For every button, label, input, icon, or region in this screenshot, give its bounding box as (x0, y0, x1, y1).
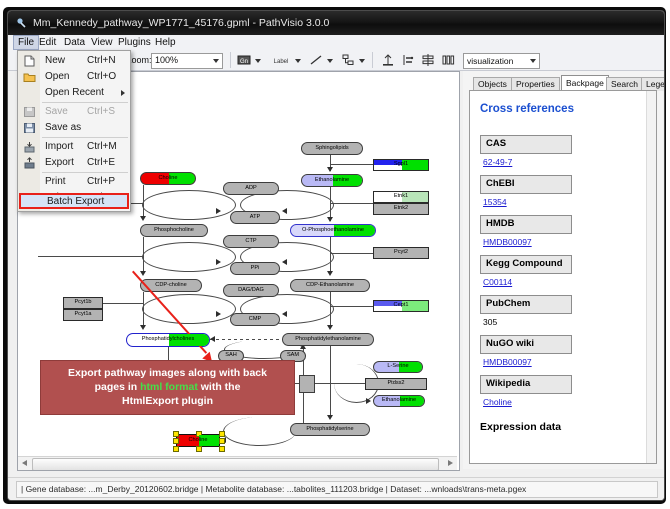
node-sgpl1[interactable]: Sgpl1 (373, 159, 429, 171)
backpage-content: Cross references CAS 62-49-7 ChEBI 15354… (470, 91, 646, 463)
arrowhead-icon (216, 259, 221, 265)
menu-item-print[interactable]: Print Ctrl+P (19, 174, 129, 190)
menu-item-accel: Ctrl+O (87, 71, 116, 82)
xref-header-hmdb: HMDB (480, 215, 572, 234)
cross-references-title: Cross references (480, 103, 574, 115)
node-label: Phosphatidylethanolamine (295, 337, 361, 343)
menu-item-label: Open (45, 71, 69, 82)
desktop-background: Mm_Kennedy_pathway_WP1771_45176.gpml - P… (0, 0, 670, 509)
menu-item-export[interactable]: Export Ctrl+E (19, 155, 129, 171)
node-l-serine[interactable]: L-Serine (373, 361, 423, 373)
node-label: Phosphocholine (154, 228, 194, 234)
xref-header-nugo: NuGO wiki (480, 335, 572, 354)
callout-line-3: HtmlExport plugin (122, 395, 213, 407)
xref-header-label: CAS (486, 138, 506, 149)
node-label: ADP (245, 186, 257, 192)
arrowhead-icon (327, 415, 333, 420)
xref-header-label: HMDB (486, 218, 515, 229)
chevron-down-icon[interactable] (326, 52, 334, 68)
canvas-horizontal-scrollbar[interactable] (18, 456, 457, 470)
node-pcyt1a[interactable]: Pcyt1a (63, 309, 103, 321)
node-dag[interactable]: DAG/DAG (223, 284, 279, 297)
tab-legend[interactable]: Legend (641, 77, 665, 91)
distribute-icon[interactable] (440, 52, 456, 68)
node-choline[interactable]: Choline (140, 172, 196, 185)
datanode-icon[interactable]: Gn (236, 52, 252, 68)
gene-link (330, 306, 373, 307)
menu-data[interactable]: Data (60, 36, 89, 49)
node-label: Etnk1 (394, 194, 408, 200)
node-label: SAH (225, 353, 237, 359)
menu-help[interactable]: Help (151, 36, 180, 49)
node-phosphatidylcholines[interactable]: Phosphatidylcholines (126, 333, 210, 347)
node-label: O-Phosphoethanolamine (302, 228, 364, 234)
node-ethanolamine-2[interactable]: Ethanolamine (373, 395, 425, 407)
arrowhead-icon (216, 208, 221, 214)
menu-item-new[interactable]: New Ctrl+N (19, 53, 129, 69)
cofactor-loop (223, 417, 296, 446)
annotation-callout-text: Export pathway images along with back pa… (47, 366, 288, 408)
edge (330, 346, 331, 418)
node-label: PPi (251, 266, 260, 272)
selection-handle[interactable] (196, 446, 202, 452)
node-ptdss2[interactable]: Ptdss2 (365, 378, 427, 390)
gene-link (330, 253, 373, 254)
arrowhead-icon (140, 216, 146, 221)
chevron-down-icon[interactable] (358, 52, 366, 68)
node-label: DAG/DAG (238, 288, 264, 294)
xref-header-label: ChEBI (486, 178, 515, 189)
gene-link (103, 303, 143, 304)
chevron-down-icon[interactable] (254, 52, 262, 68)
node-label: Pcyt1a (74, 312, 91, 318)
arrowhead-icon (327, 325, 333, 330)
node-label: SAM (287, 353, 299, 359)
callout-line-2b: with the (198, 381, 241, 393)
node-label: CDP-Ethanolamine (306, 283, 354, 289)
menu-bar: File Edit Data View Plugins Help (8, 35, 664, 51)
arrowhead-icon (216, 311, 221, 317)
xref-header-pubchem: PubChem (480, 295, 572, 314)
gene-link (330, 164, 373, 165)
save-as-icon (23, 122, 36, 134)
xref-header-label: Wikipedia (486, 378, 530, 389)
xref-value-kegg[interactable]: C00114 (483, 277, 512, 287)
menu-item-accel: Ctrl+E (87, 157, 115, 168)
node-label: Choline (189, 438, 208, 444)
node-etnk1[interactable]: Etnk1 (373, 191, 429, 203)
xref-header-label: PubChem (486, 298, 530, 309)
arrowhead-icon (366, 398, 371, 404)
annotation-callout: Export pathway images along with back pa… (40, 360, 295, 415)
status-bar: | Gene database: ...m_Derby_20120602.bri… (8, 477, 664, 500)
node-phosphatidylserine[interactable]: Phosphatidylserine (290, 423, 370, 436)
callout-line-1: Export pathway images along with back (68, 367, 267, 379)
tab-objects[interactable]: Objects (473, 77, 512, 91)
node-label: Ethanolamine (382, 398, 416, 404)
xref-header-label: NuGO wiki (486, 338, 534, 349)
xref-header-chebi: ChEBI (480, 175, 572, 194)
node-o-phosphoethanolamine[interactable]: O-Phosphoethanolamine (290, 224, 376, 237)
label-icon[interactable]: Label (268, 52, 294, 68)
line-icon[interactable] (308, 52, 324, 68)
menu-edit[interactable]: Edit (35, 36, 60, 49)
reaction-node (299, 375, 315, 393)
open-folder-icon (23, 71, 36, 83)
node-label: Etnk2 (394, 206, 408, 212)
node-label: Pcyt1b (74, 300, 91, 306)
xref-value-nugo[interactable]: HMDB00097 (483, 357, 532, 367)
menu-item-label: New (45, 55, 65, 66)
node-ethanolamine[interactable]: Ethanolamine (301, 174, 363, 187)
menu-separator (42, 102, 128, 103)
arrowhead-icon (327, 217, 333, 222)
node-label: ATP (250, 215, 260, 221)
node-label: Sgpl1 (394, 162, 408, 168)
xref-header-kegg: Kegg Compound (480, 255, 572, 274)
node-label: CTP (245, 239, 256, 245)
node-ctp[interactable]: CTP (223, 235, 279, 248)
save-icon (23, 106, 36, 118)
menu-item-save-as[interactable]: Save as (19, 120, 129, 136)
node-label: Cept1 (394, 303, 409, 309)
file-menu-dropdown: New Ctrl+N Open Ctrl+O Open Recent (17, 50, 131, 212)
node-label: Ethanolamine (315, 178, 349, 184)
menu-item-open[interactable]: Open Ctrl+O (19, 69, 129, 85)
node-pcyt1b[interactable]: Pcyt1b (63, 297, 103, 309)
node-label: Choline (159, 176, 178, 182)
selection-handle[interactable] (173, 446, 179, 452)
node-label: CDP-choline (155, 283, 186, 289)
xref-header-label: Kegg Compound (486, 258, 563, 269)
node-label: CMP (249, 317, 261, 323)
selection-handle[interactable] (173, 431, 179, 437)
callout-highlight: html format (140, 381, 198, 393)
node-phosphocholine[interactable]: Phosphocholine (140, 224, 208, 237)
menu-item-label: Export (45, 157, 74, 168)
xref-header-wikipedia: Wikipedia (480, 375, 572, 394)
stack-icon[interactable] (420, 52, 436, 68)
menu-view[interactable]: View (87, 36, 117, 49)
arrowhead-icon (327, 271, 333, 276)
svg-text:Label: Label (274, 59, 289, 65)
selection-handle[interactable] (219, 438, 225, 444)
selection-handle[interactable] (219, 446, 225, 452)
menu-item-accel: Ctrl+S (87, 106, 115, 117)
export-icon (23, 157, 36, 169)
scroll-left-icon[interactable] (22, 460, 27, 466)
side-panel-tabstrip: Objects Properties Backpage Search Legen… (469, 75, 663, 90)
visualization-value: visualization (467, 56, 513, 66)
xref-value-pubchem: 305 (483, 317, 497, 327)
gene-link (38, 256, 143, 257)
arrowhead-icon (282, 311, 287, 317)
new-file-icon (23, 55, 36, 67)
chevron-right-icon (121, 90, 125, 96)
xref-value-cas[interactable]: 62-49-7 (483, 157, 512, 167)
node-label: L-Serine (387, 364, 408, 370)
menu-item-label: Save as (45, 122, 81, 133)
status-bar-field: | Gene database: ...m_Derby_20120602.bri… (16, 481, 658, 498)
zoom-value: 100% (155, 55, 178, 65)
arrowhead-icon (327, 167, 333, 172)
chevron-down-icon (213, 59, 219, 63)
menu-separator (42, 172, 128, 173)
menu-item-accel: Ctrl+N (87, 55, 116, 66)
status-bar-text: | Gene database: ...m_Derby_20120602.bri… (21, 484, 526, 494)
selection-handle[interactable] (173, 438, 179, 444)
node-pcyt2[interactable]: Pcyt2 (373, 247, 429, 259)
callout-line-2a: pages in (95, 381, 141, 393)
xref-header-cas: CAS (480, 135, 572, 154)
arrowhead-icon (282, 259, 287, 265)
node-sphingolipids[interactable]: Sphingolipids (301, 142, 363, 155)
node-phosphatidylethanolamine[interactable]: Phosphatidylethanolamine (282, 333, 374, 346)
menu-item-accel: Ctrl+P (87, 176, 115, 187)
selection-handle[interactable] (219, 431, 225, 437)
backpage-panel: Cross references CAS 62-49-7 ChEBI 15354… (469, 90, 657, 464)
menu-item-open-recent[interactable]: Open Recent (19, 85, 129, 101)
gene-link (330, 203, 373, 204)
node-etnk2[interactable]: Etnk2 (373, 203, 429, 215)
scroll-thumb[interactable] (32, 458, 439, 471)
node-ppi[interactable]: PPi (230, 262, 280, 275)
tab-backpage[interactable]: Backpage (561, 75, 609, 91)
node-label: Pcyt2 (394, 250, 408, 256)
menu-item-label: Print (45, 176, 66, 187)
arrowhead-icon (140, 271, 146, 276)
tab-properties[interactable]: Properties (511, 77, 560, 91)
cofactor-loop (142, 190, 236, 220)
node-cept1[interactable]: Cept1 (373, 300, 429, 312)
svg-text:Gn: Gn (240, 59, 248, 65)
visualization-combobox[interactable]: visualization (463, 53, 540, 69)
menu-item-label: Import (45, 141, 73, 152)
node-adp[interactable]: ADP (223, 182, 279, 195)
node-label: Ptdss2 (387, 381, 404, 387)
menu-plugins[interactable]: Plugins (114, 36, 155, 49)
menu-item-save[interactable]: Save Ctrl+S (19, 104, 129, 120)
cofactor-loop (142, 242, 236, 272)
expression-data-title: Expression data (480, 421, 561, 433)
edge (143, 204, 144, 205)
xref-value-hmdb[interactable]: HMDB00097 (483, 237, 532, 247)
menu-item-import[interactable]: Import Ctrl+M (19, 139, 129, 155)
arrowhead-icon (210, 336, 215, 342)
node-label: Phosphatidylcholines (142, 337, 195, 343)
chevron-down-icon[interactable] (294, 52, 302, 68)
window-title: Mm_Kennedy_pathway_WP1771_45176.gpml - P… (33, 16, 329, 30)
align-top-icon[interactable] (380, 52, 396, 68)
menu-item-label: Batch Export (47, 196, 104, 207)
title-bar: Mm_Kennedy_pathway_WP1771_45176.gpml - P… (8, 11, 664, 35)
import-icon (23, 141, 36, 153)
node-cdp-ethanolamine[interactable]: CDP-Ethanolamine (290, 279, 370, 292)
zoom-combobox[interactable]: 100% (151, 53, 223, 69)
menu-item-batch-export[interactable]: Batch Export (19, 193, 129, 209)
arrowhead-icon (282, 208, 287, 214)
node-label: Phosphatidylserine (306, 427, 353, 433)
node-cmp[interactable]: CMP (230, 313, 280, 326)
xref-value-wikipedia[interactable]: Choline (483, 397, 512, 407)
arrowhead-icon (140, 325, 146, 330)
xref-value-chebi[interactable]: 15354 (483, 197, 507, 207)
pathvisio-icon (16, 17, 28, 29)
connector-icon[interactable] (340, 52, 356, 68)
menu-separator (42, 137, 128, 138)
tab-search[interactable]: Search (606, 77, 643, 91)
toolbar-separator (372, 52, 373, 68)
node-label: Sphingolipids (315, 146, 348, 152)
node-atp[interactable]: ATP (230, 211, 280, 224)
align-left-icon[interactable] (400, 52, 416, 68)
menu-item-label: Save (45, 106, 68, 117)
backpage-vertical-scrollbar[interactable] (646, 91, 656, 463)
application-window: Mm_Kennedy_pathway_WP1771_45176.gpml - P… (7, 10, 665, 501)
side-panel: Objects Properties Backpage Search Legen… (463, 71, 663, 469)
chevron-down-icon (530, 59, 536, 63)
toolbar-separator (230, 52, 231, 68)
menu-item-label: Open Recent (45, 87, 104, 98)
menu-item-accel: Ctrl+M (87, 141, 117, 152)
scroll-right-icon[interactable] (448, 460, 453, 466)
edge (168, 347, 169, 361)
